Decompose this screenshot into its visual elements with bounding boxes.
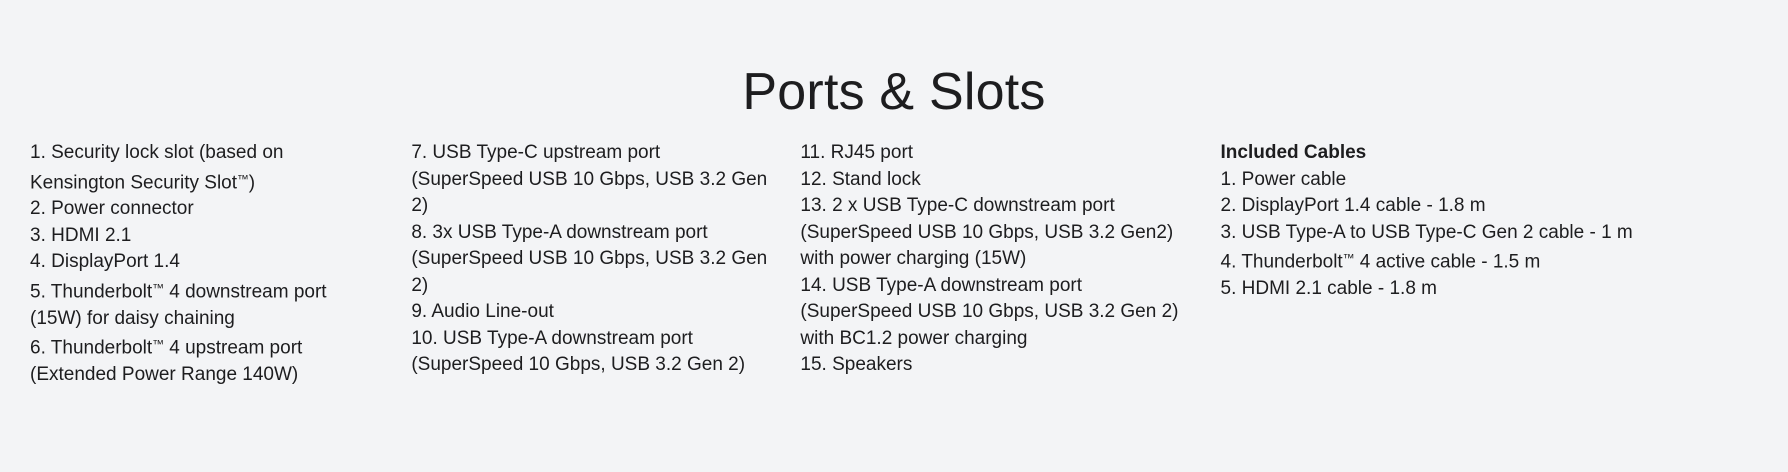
page-title: Ports & Slots xyxy=(0,61,1788,123)
list-item: 15. Speakers xyxy=(800,352,1192,379)
specs-columns: 1. Security lock slot (based on Kensingt… xyxy=(0,140,1788,388)
included-cables-list: 1. Power cable 2. DisplayPort 1.4 cable … xyxy=(1221,167,1768,303)
list-item: 10. USB Type-A downstream port (SuperSpe… xyxy=(411,326,772,379)
ports-list-2: 7. USB Type-C upstream port (SuperSpeed … xyxy=(411,140,772,379)
list-item: 6. Thunderbolt™ 4 upstream port (Extende… xyxy=(30,332,383,388)
list-item: 3. USB Type-A to USB Type-C Gen 2 cable … xyxy=(1221,220,1768,247)
ports-and-slots-page: Ports & Slots 1. Security lock slot (bas… xyxy=(0,0,1788,472)
list-item: 14. USB Type-A downstream port (SuperSpe… xyxy=(800,273,1192,353)
ports-column-3: 11. RJ45 port 12. Stand lock 13. 2 x USB… xyxy=(800,140,1220,379)
list-item: 2. Power connector xyxy=(30,196,383,223)
list-item: 7. USB Type-C upstream port (SuperSpeed … xyxy=(411,140,772,220)
list-item: 4. DisplayPort 1.4 xyxy=(30,249,383,276)
trademark-glyph: ™ xyxy=(152,338,164,351)
included-cables-heading: Included Cables xyxy=(1221,140,1768,167)
list-item: 5. Thunderbolt™ 4 downstream port (15W) … xyxy=(30,276,383,332)
ports-list-3: 11. RJ45 port 12. Stand lock 13. 2 x USB… xyxy=(800,140,1192,379)
ports-column-1: 1. Security lock slot (based on Kensingt… xyxy=(30,140,411,388)
list-item: 1. Power cable xyxy=(1221,167,1768,194)
list-item: 12. Stand lock xyxy=(800,167,1192,194)
list-item: 2. DisplayPort 1.4 cable - 1.8 m xyxy=(1221,193,1768,220)
trademark-glyph: ™ xyxy=(237,173,249,186)
list-item: 4. Thunderbolt™ 4 active cable - 1.5 m xyxy=(1221,246,1768,276)
list-item: 11. RJ45 port xyxy=(800,140,1192,167)
list-item: 8. 3x USB Type-A downstream port (SuperS… xyxy=(411,220,772,300)
list-item: 3. HDMI 2.1 xyxy=(30,223,383,250)
list-item: 9. Audio Line-out xyxy=(411,299,772,326)
list-item: 1. Security lock slot (based on Kensingt… xyxy=(30,140,383,196)
ports-column-2: 7. USB Type-C upstream port (SuperSpeed … xyxy=(411,140,800,379)
included-cables-column: Included Cables 1. Power cable 2. Displa… xyxy=(1221,140,1768,302)
ports-list-1: 1. Security lock slot (based on Kensingt… xyxy=(30,140,383,388)
list-item: 5. HDMI 2.1 cable - 1.8 m xyxy=(1221,276,1768,303)
list-item: 13. 2 x USB Type-C downstream port (Supe… xyxy=(800,193,1192,273)
trademark-glyph: ™ xyxy=(152,282,164,295)
trademark-glyph: ™ xyxy=(1343,252,1355,265)
